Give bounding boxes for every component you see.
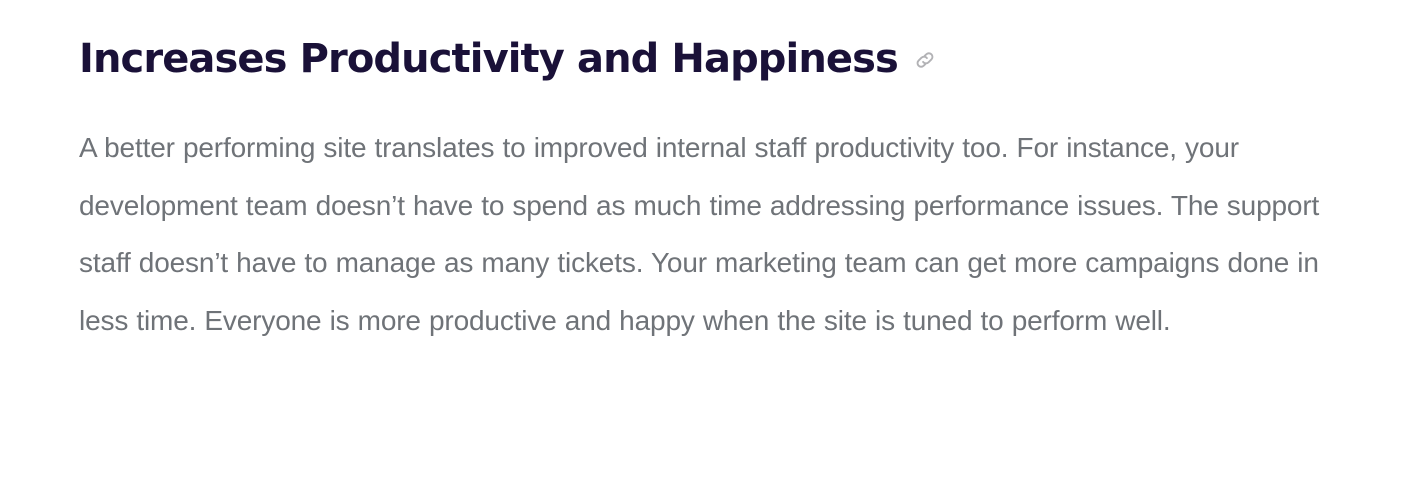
link-icon[interactable] — [912, 47, 938, 73]
article-section: Increases Productivity and Happiness A b… — [0, 0, 1407, 494]
section-body-paragraph: A better performing site translates to i… — [79, 80, 1370, 349]
page-title: Increases Productivity and Happiness — [79, 0, 1370, 80]
section-heading-text: Increases Productivity and Happiness — [79, 38, 898, 80]
